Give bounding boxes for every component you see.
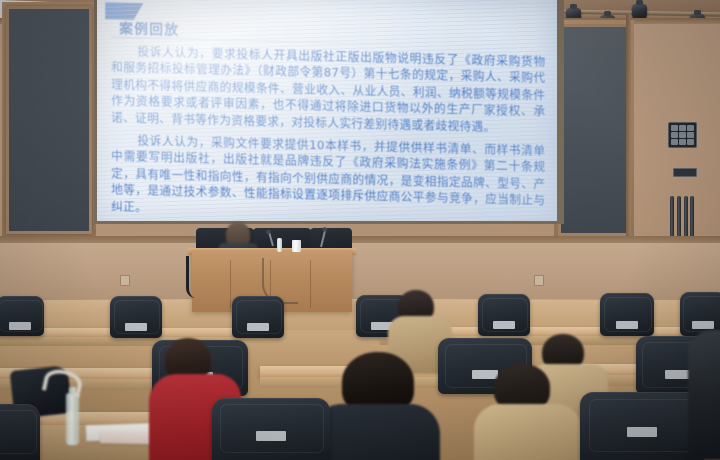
chair[interactable] bbox=[212, 398, 330, 460]
cable bbox=[186, 256, 196, 298]
right-wall-column-edge bbox=[626, 14, 631, 240]
wall-outlet-icon bbox=[120, 275, 130, 286]
slide-paragraph-1: 投诉人认为，要求投标人开具出版社正版出版物说明违反了《政府采购货物和服务招标投标… bbox=[111, 43, 545, 137]
slide-paragraph-2: 投诉人认为，采购文件要求提供10本样书，并提供供样书清单、而样书清单中需要写明出… bbox=[111, 132, 545, 221]
acoustic-panel-left bbox=[6, 6, 92, 234]
wall-control-panel[interactable] bbox=[668, 122, 697, 148]
water-cup bbox=[292, 240, 301, 252]
chair[interactable] bbox=[0, 296, 44, 336]
presentation-slide: 案例回放 投诉人认为，要求投标人开具出版社正版出版物说明违反了《政府采购货物和服… bbox=[97, 0, 557, 221]
lecture-hall-photo: 案例回放 投诉人认为，要求投标人开具出版社正版出版物说明违反了《政府采购货物和服… bbox=[0, 0, 720, 460]
slide-title: 案例回放 bbox=[119, 17, 179, 39]
chair[interactable] bbox=[232, 296, 284, 338]
person-body bbox=[688, 330, 720, 460]
water-bottle bbox=[66, 393, 79, 445]
stage-bottle bbox=[277, 238, 282, 252]
av-wall-plate[interactable] bbox=[673, 168, 697, 177]
acoustic-panel-right bbox=[558, 24, 630, 236]
chair[interactable] bbox=[110, 296, 162, 338]
wall-outlet-icon bbox=[534, 275, 544, 286]
chair[interactable] bbox=[478, 294, 530, 336]
person-body bbox=[474, 404, 582, 460]
chair[interactable] bbox=[580, 392, 704, 460]
person-body bbox=[312, 404, 440, 460]
chair[interactable] bbox=[600, 293, 654, 336]
projection-screen: 案例回放 投诉人认为，要求投标人开具出版社正版出版物说明违反了《政府采购货物和服… bbox=[97, 0, 557, 221]
chair[interactable] bbox=[0, 404, 40, 460]
